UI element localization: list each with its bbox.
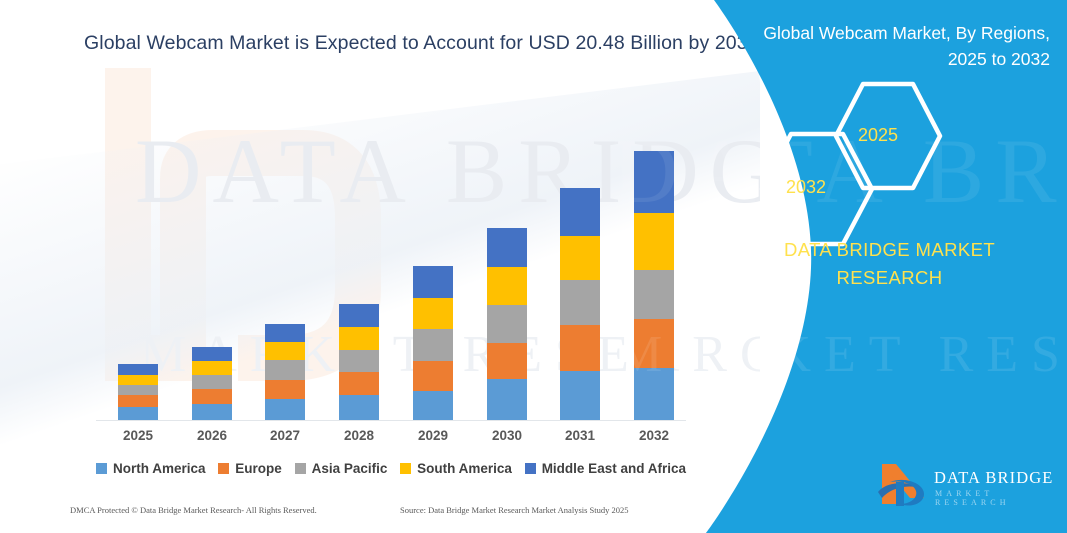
footer: DMCA Protected © Data Bridge Market Rese…: [0, 505, 700, 525]
legend-item-asia-pacific[interactable]: Asia Pacific: [295, 461, 388, 476]
bar-segment: [339, 395, 379, 420]
bar-segment: [192, 347, 232, 361]
footer-source: Source: Data Bridge Market Research Mark…: [400, 505, 629, 515]
bar-segment: [265, 380, 305, 399]
bar-segment: [560, 371, 600, 420]
bar-segment: [265, 342, 305, 360]
logo-name-top: DATA BRIDGE: [934, 468, 1053, 488]
bar-2031: [560, 188, 600, 420]
bar-segment: [413, 361, 453, 391]
x-tick-2025: 2025: [118, 428, 158, 443]
bar-segment: [118, 375, 158, 385]
watermark-text-line2-blue: MARKET RESEARCH: [616, 325, 1067, 384]
chart-plot-area: [96, 120, 686, 421]
x-tick-2031: 2031: [560, 428, 600, 443]
x-tick-2032: 2032: [634, 428, 674, 443]
bar-segment: [413, 298, 453, 329]
legend-label: Europe: [235, 461, 282, 476]
x-tick-2029: 2029: [413, 428, 453, 443]
bar-segment: [487, 379, 527, 420]
bar-segment: [560, 280, 600, 325]
bar-segment: [487, 305, 527, 343]
right-panel-title-line1: Global Webcam Market, By Regions,: [763, 23, 1050, 43]
bar-segment: [339, 350, 379, 372]
bars-group: [96, 120, 686, 420]
data-bridge-b-mark-icon: [876, 458, 932, 510]
x-tick-2027: 2027: [265, 428, 305, 443]
legend-label: Middle East and Africa: [542, 461, 686, 476]
bar-2029: [413, 266, 453, 420]
bar-segment: [487, 228, 527, 267]
legend-label: North America: [113, 461, 206, 476]
right-panel-brand-line2: RESEARCH: [837, 267, 943, 288]
bar-segment: [265, 360, 305, 380]
logo-name-bottom: MARKET RESEARCH: [935, 489, 1058, 507]
x-tick-2028: 2028: [339, 428, 379, 443]
left-chart-panel: DATA BRIDGE MARKET RESEARCH Global Webca…: [0, 0, 760, 533]
bar-segment: [339, 372, 379, 395]
legend-item-south-america[interactable]: South America: [400, 461, 512, 476]
bar-segment: [118, 385, 158, 395]
bar-segment: [413, 391, 453, 420]
right-panel-brand: DATA BRIDGE MARKET RESEARCH: [712, 236, 1067, 292]
bar-segment: [339, 304, 379, 327]
legend-swatch-icon: [525, 463, 536, 474]
bar-segment: [413, 266, 453, 298]
infographic-root: DATA BRIDGE MARKET RESEARCH Global Webca…: [0, 0, 1067, 533]
bar-segment: [192, 389, 232, 404]
legend-item-europe[interactable]: Europe: [218, 461, 282, 476]
bar-segment: [192, 375, 232, 389]
chart-legend: North AmericaEuropeAsia PacificSouth Ame…: [96, 456, 686, 480]
bar-2030: [487, 228, 527, 420]
bar-segment: [265, 324, 305, 342]
right-panel-brand-line1: DATA BRIDGE MARKET: [784, 239, 995, 260]
x-tick-2026: 2026: [192, 428, 232, 443]
bar-segment: [118, 395, 158, 407]
bar-segment: [118, 364, 158, 375]
x-axis-tick-labels: 20252026202720282029203020312032: [96, 428, 686, 450]
bar-2026: [192, 347, 232, 420]
legend-swatch-icon: [400, 463, 411, 474]
data-bridge-logo: DATA BRIDGE MARKET RESEARCH: [876, 458, 1058, 516]
bar-segment: [192, 361, 232, 375]
bar-segment: [118, 407, 158, 420]
hexagon-2032-label: 2032: [786, 177, 826, 198]
bar-segment: [413, 329, 453, 361]
bar-2025: [118, 364, 158, 420]
legend-label: Asia Pacific: [312, 461, 388, 476]
legend-item-middle-east-and-africa[interactable]: Middle East and Africa: [525, 461, 686, 476]
legend-swatch-icon: [218, 463, 229, 474]
legend-label: South America: [417, 461, 512, 476]
bar-segment: [634, 270, 674, 319]
right-panel-title: Global Webcam Market, By Regions, 2025 t…: [730, 20, 1064, 72]
bar-segment: [265, 399, 305, 420]
legend-swatch-icon: [96, 463, 107, 474]
x-axis-line: [96, 420, 686, 421]
bar-segment: [560, 325, 600, 371]
chart-title: Global Webcam Market is Expected to Acco…: [84, 32, 714, 55]
legend-swatch-icon: [295, 463, 306, 474]
hexagon-group: 2025 2032: [712, 88, 1067, 218]
bar-segment: [560, 188, 600, 236]
right-panel-title-line2: 2025 to 2032: [948, 49, 1050, 69]
bar-2028: [339, 304, 379, 420]
bar-segment: [560, 236, 600, 280]
bar-segment: [192, 404, 232, 420]
right-panel-content: DATA BRIDGE MARKET RESEARCH Global Webca…: [712, 0, 1067, 533]
legend-item-north-america[interactable]: North America: [96, 461, 206, 476]
bar-segment: [487, 267, 527, 305]
bar-segment: [339, 327, 379, 350]
bar-segment: [487, 343, 527, 379]
bar-2027: [265, 324, 305, 420]
x-tick-2030: 2030: [487, 428, 527, 443]
footer-copyright: DMCA Protected © Data Bridge Market Rese…: [70, 505, 317, 515]
